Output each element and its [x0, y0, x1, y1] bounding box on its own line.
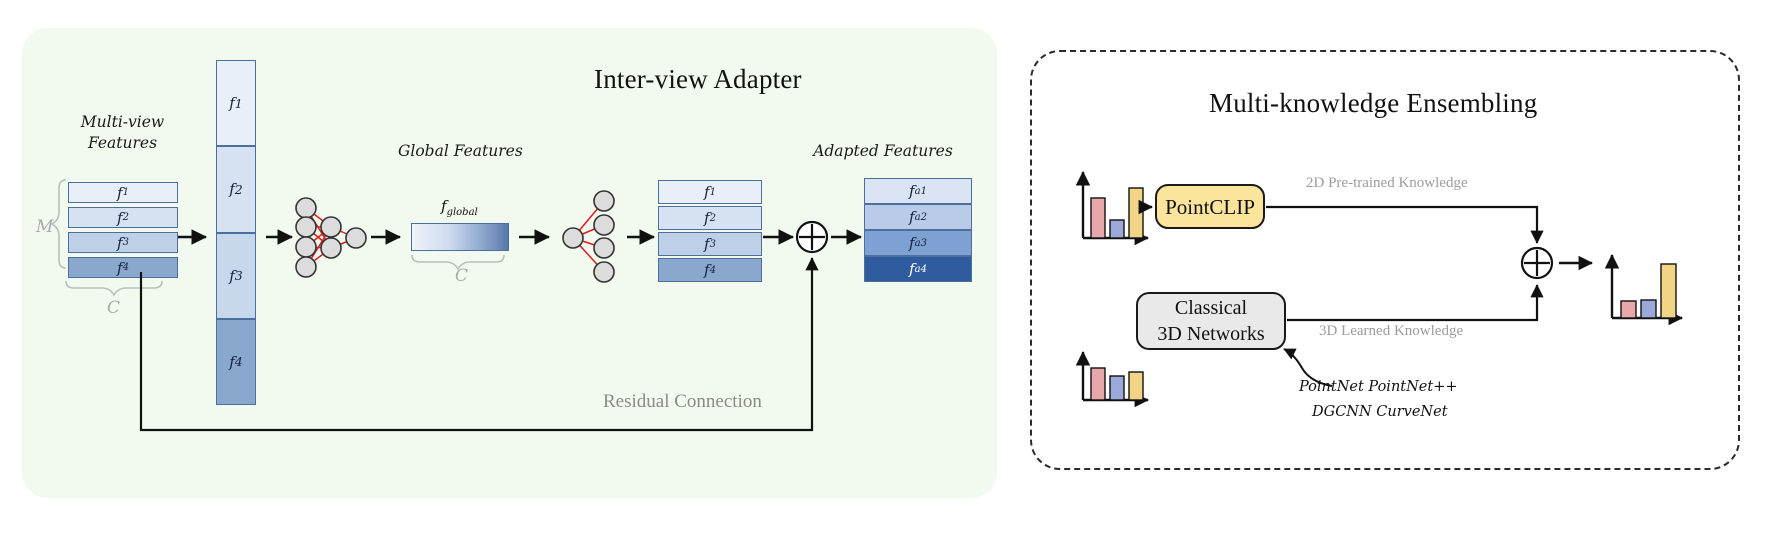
- classical-label-line2: 3D Networks: [1157, 321, 1264, 347]
- global-feature-bar: [411, 223, 509, 251]
- 2d-knowledge-label: 2D Pre-trained Knowledge: [1306, 175, 1468, 192]
- multi-knowledge-ensembling-title: Multi-knowledge Ensembling: [1209, 88, 1537, 119]
- pointclip-label: PointCLIP: [1165, 194, 1255, 220]
- f-global-label: fglobal: [441, 197, 478, 218]
- f-global-subscript: global: [447, 207, 478, 218]
- adapted-features-label: Adapted Features: [810, 141, 956, 162]
- multi-view-features-label-line1: Multi-view: [60, 112, 185, 133]
- decoded-feature-box-3: f3: [658, 232, 762, 256]
- model-names-line2: DGCNN CurveNet: [1312, 399, 1448, 425]
- decoded-feature-box-1: f1: [658, 180, 762, 204]
- decoded-feature-box-2: f2: [658, 206, 762, 230]
- input-feature-box-2: f2: [68, 207, 178, 228]
- feature-subscript: 4: [123, 262, 129, 273]
- adapted-feature-box-2: fa2: [864, 204, 972, 230]
- concatenated-feature-column: f1f2f3f4: [216, 60, 256, 405]
- feature-subscript: 2: [921, 212, 927, 223]
- classical-3d-networks-box[interactable]: Classical 3D Networks: [1136, 292, 1286, 350]
- multi-view-features-label-line2: Features: [60, 133, 185, 154]
- feature-subscript: 1: [235, 96, 243, 111]
- feature-subscript: 1: [921, 186, 927, 197]
- feature-subscript: 2: [710, 213, 716, 224]
- dim-c-input-label: C: [107, 298, 120, 318]
- concat-feature-segment-3: f3: [216, 233, 256, 319]
- dim-c-global-label: C: [455, 266, 468, 286]
- feature-subscript: 3: [235, 268, 243, 283]
- adapted-feature-box-1: fa1: [864, 178, 972, 204]
- residual-connection-label: Residual Connection: [603, 391, 762, 413]
- classical-label-line1: Classical: [1175, 295, 1247, 321]
- concat-feature-segment-1: f1: [216, 60, 256, 146]
- figure-root: Inter-view Adapter Multi-view Features f…: [0, 0, 1766, 550]
- decoded-feature-box-4: f4: [658, 258, 762, 282]
- feature-subscript: 3: [710, 239, 716, 250]
- adapted-feature-box-3: fa3: [864, 230, 972, 256]
- concat-feature-segment-2: f2: [216, 146, 256, 232]
- feature-subscript: 4: [921, 264, 927, 275]
- feature-subscript: 2: [235, 182, 243, 197]
- dim-m-label: M: [36, 217, 53, 237]
- feature-subscript: 4: [710, 265, 716, 276]
- input-feature-box-1: f1: [68, 182, 178, 203]
- 3d-knowledge-label: 3D Learned Knowledge: [1319, 323, 1463, 340]
- global-features-label: Global Features: [398, 141, 522, 162]
- feature-subscript: 3: [123, 237, 129, 248]
- feature-subscript: 2: [123, 212, 129, 223]
- concat-feature-segment-4: f4: [216, 319, 256, 405]
- pointclip-box[interactable]: PointCLIP: [1155, 184, 1265, 229]
- feature-subscript: 4: [235, 354, 243, 369]
- inter-view-adapter-title: Inter-view Adapter: [594, 64, 802, 95]
- feature-subscript: 1: [123, 187, 129, 198]
- input-feature-box-3: f3: [68, 232, 178, 253]
- feature-subscript: 3: [921, 238, 927, 249]
- model-names-line1: PointNet PointNet++: [1299, 374, 1458, 400]
- feature-subscript: 1: [710, 187, 716, 198]
- adapted-feature-box-4: fa4: [864, 256, 972, 282]
- input-feature-box-4: f4: [68, 257, 178, 278]
